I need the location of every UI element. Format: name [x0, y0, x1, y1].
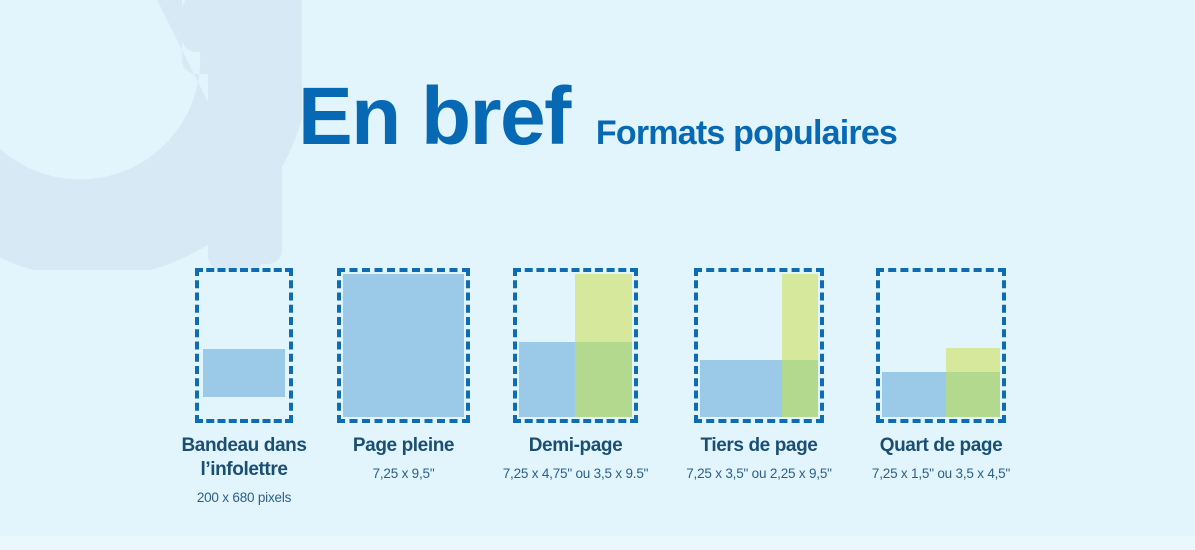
format-quart-de-page-icon	[876, 268, 1006, 423]
format-page-pleine-icon	[337, 268, 470, 423]
format-item-demi-page: Demi-page 7,25 x 4,75" ou 3,5 x 9.5"	[513, 268, 638, 423]
bottom-strip	[0, 536, 1195, 550]
format-dims: 7,25 x 1,5" ou 3,5 x 4,5"	[872, 465, 1010, 483]
format-demi-page-icon	[513, 268, 638, 423]
format-caption-demi-page: Demi-page 7,25 x 4,75" ou 3,5 x 9.5"	[503, 434, 649, 482]
page-pleine-full-fill	[343, 274, 464, 417]
format-item-quart-de-page: Quart de page 7,25 x 1,5" ou 3,5 x 4,5"	[876, 268, 1006, 423]
page-title: En bref	[298, 76, 570, 158]
demi-page-overlap-fill	[575, 342, 632, 417]
format-dims: 200 x 680 pixels	[149, 489, 339, 507]
slide-header: En bref Formats populaires	[0, 76, 1195, 172]
format-caption-quart-de-page: Quart de page 7,25 x 1,5" ou 3,5 x 4,5"	[872, 434, 1010, 482]
quart-horizontal-quarter-fill	[882, 372, 946, 417]
format-name: Quart de page	[872, 434, 1010, 458]
format-caption-tiers-de-page: Tiers de page 7,25 x 3,5" ou 2,25 x 9,5"	[686, 434, 832, 482]
format-item-page-pleine: Page pleine 7,25 x 9,5"	[337, 268, 470, 423]
slide-canvas: En bref Formats populaires Bandeau dans …	[0, 0, 1195, 550]
format-bandeau-icon	[195, 268, 293, 423]
format-tiers-de-page-icon	[694, 268, 824, 423]
bandeau-band-fill	[203, 349, 285, 397]
quart-overlap-fill	[946, 372, 1000, 417]
format-caption-bandeau: Bandeau dans l’infolettre 200 x 680 pixe…	[149, 434, 339, 506]
format-item-bandeau: Bandeau dans l’infolettre 200 x 680 pixe…	[195, 268, 293, 423]
format-name: Demi-page	[503, 434, 649, 458]
format-dims: 7,25 x 9,5"	[353, 465, 454, 483]
format-name: Tiers de page	[686, 434, 832, 458]
format-dims: 7,25 x 4,75" ou 3,5 x 9.5"	[503, 465, 649, 483]
format-caption-page-pleine: Page pleine 7,25 x 9,5"	[353, 434, 454, 482]
page-subtitle: Formats populaires	[596, 114, 897, 153]
format-item-tiers-de-page: Tiers de page 7,25 x 3,5" ou 2,25 x 9,5"	[694, 268, 824, 423]
tiers-horizontal-third-fill	[700, 360, 782, 417]
demi-page-horizontal-half-fill	[519, 342, 575, 417]
tiers-overlap-fill	[782, 360, 818, 417]
format-dims: 7,25 x 3,5" ou 2,25 x 9,5"	[686, 465, 832, 483]
format-name: Page pleine	[353, 434, 454, 458]
format-name: Bandeau dans l’infolettre	[149, 434, 339, 482]
